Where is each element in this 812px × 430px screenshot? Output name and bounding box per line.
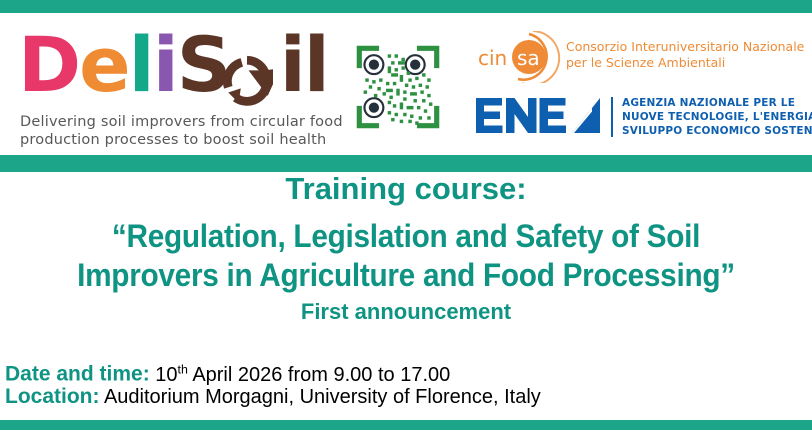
cinsa-subtitle: Consorzio Interuniversitario Nazionale p… xyxy=(566,39,804,71)
enea-subtitle-line-3: SVILUPPO ECONOMICO SOSTENIBILE xyxy=(622,124,812,138)
announcement-body: Training course: “Regulation, Legislatio… xyxy=(0,172,812,420)
delisoil-tagline: Delivering soil improvers from circular … xyxy=(20,113,350,149)
enea-subtitle-line-2: NUOVE TECNOLOGIE, L'ENERGIA E LO xyxy=(622,110,812,124)
partner-logo-enea[interactable]: AGENZIA NAZIONALE PER LE NUOVE TECNOLOGI… xyxy=(474,93,809,149)
delisoil-wordmark: DeliSoil xyxy=(18,25,328,105)
recycle-arrow-icon xyxy=(221,54,273,106)
tagline-line-1: Delivering soil improvers from circular … xyxy=(20,113,350,131)
detail-date-value: 10th April 2026 from 9.00 to 17.00 xyxy=(150,364,451,386)
course-title: “Regulation, Legislation and Safety of S… xyxy=(28,217,783,295)
middle-teal-rule xyxy=(0,155,812,172)
delisoil-logo[interactable]: DeliSoil Delivering soil improvers from … xyxy=(18,25,348,150)
logo-letter-d: D xyxy=(18,20,79,109)
detail-date-and-time: Date and time: 10th April 2026 from 9.00… xyxy=(5,357,450,387)
detail-date-day: 10 xyxy=(155,364,177,386)
bottom-teal-rule xyxy=(0,420,812,430)
detail-date-label: Date and time: xyxy=(5,363,150,386)
qr-code-icon[interactable] xyxy=(355,41,441,133)
course-title-line-2: Improvers in Agriculture and Food Proces… xyxy=(28,256,783,295)
enea-divider xyxy=(611,97,613,137)
tagline-line-2: production processes to boost soil healt… xyxy=(20,131,350,149)
logo-letter-i: i xyxy=(153,20,177,109)
partner-logo-cinsa[interactable]: cin sa Consorzio Interuniversitario Nazi… xyxy=(474,31,804,87)
svg-text:cin: cin xyxy=(478,46,507,70)
enea-subtitle-line-1: AGENZIA NAZIONALE PER LE xyxy=(622,96,812,110)
course-label: Training course: xyxy=(0,172,812,206)
course-title-line-1: “Regulation, Legislation and Safety of S… xyxy=(28,217,783,256)
logo-letter-l: l xyxy=(129,20,153,109)
announcement-label: First announcement xyxy=(0,299,812,325)
detail-location: Location: Auditorium Morgagni, Universit… xyxy=(5,385,541,409)
logo-letter-e: e xyxy=(79,20,129,109)
logo-letters-il: il xyxy=(280,20,328,109)
enea-mark-icon xyxy=(474,95,602,139)
enea-subtitle: AGENZIA NAZIONALE PER LE NUOVE TECNOLOGI… xyxy=(622,96,812,138)
detail-date-rest: April 2026 from 9.00 to 17.00 xyxy=(188,364,450,386)
cinsa-subtitle-line-2: per le Scienze Ambientali xyxy=(566,55,804,71)
announcement-page: DeliSoil Delivering soil improvers from … xyxy=(0,0,812,430)
detail-location-value: Auditorium Morgagni, University of Flore… xyxy=(100,386,541,408)
detail-date-ordinal: th xyxy=(178,362,188,376)
cinsa-mark-icon: cin sa xyxy=(474,31,564,83)
detail-location-label: Location: xyxy=(5,385,100,408)
header-logo-band: DeliSoil Delivering soil improvers from … xyxy=(0,13,812,155)
top-teal-rule xyxy=(0,0,812,13)
svg-text:sa: sa xyxy=(517,46,540,70)
cinsa-subtitle-line-1: Consorzio Interuniversitario Nazionale xyxy=(566,39,804,55)
